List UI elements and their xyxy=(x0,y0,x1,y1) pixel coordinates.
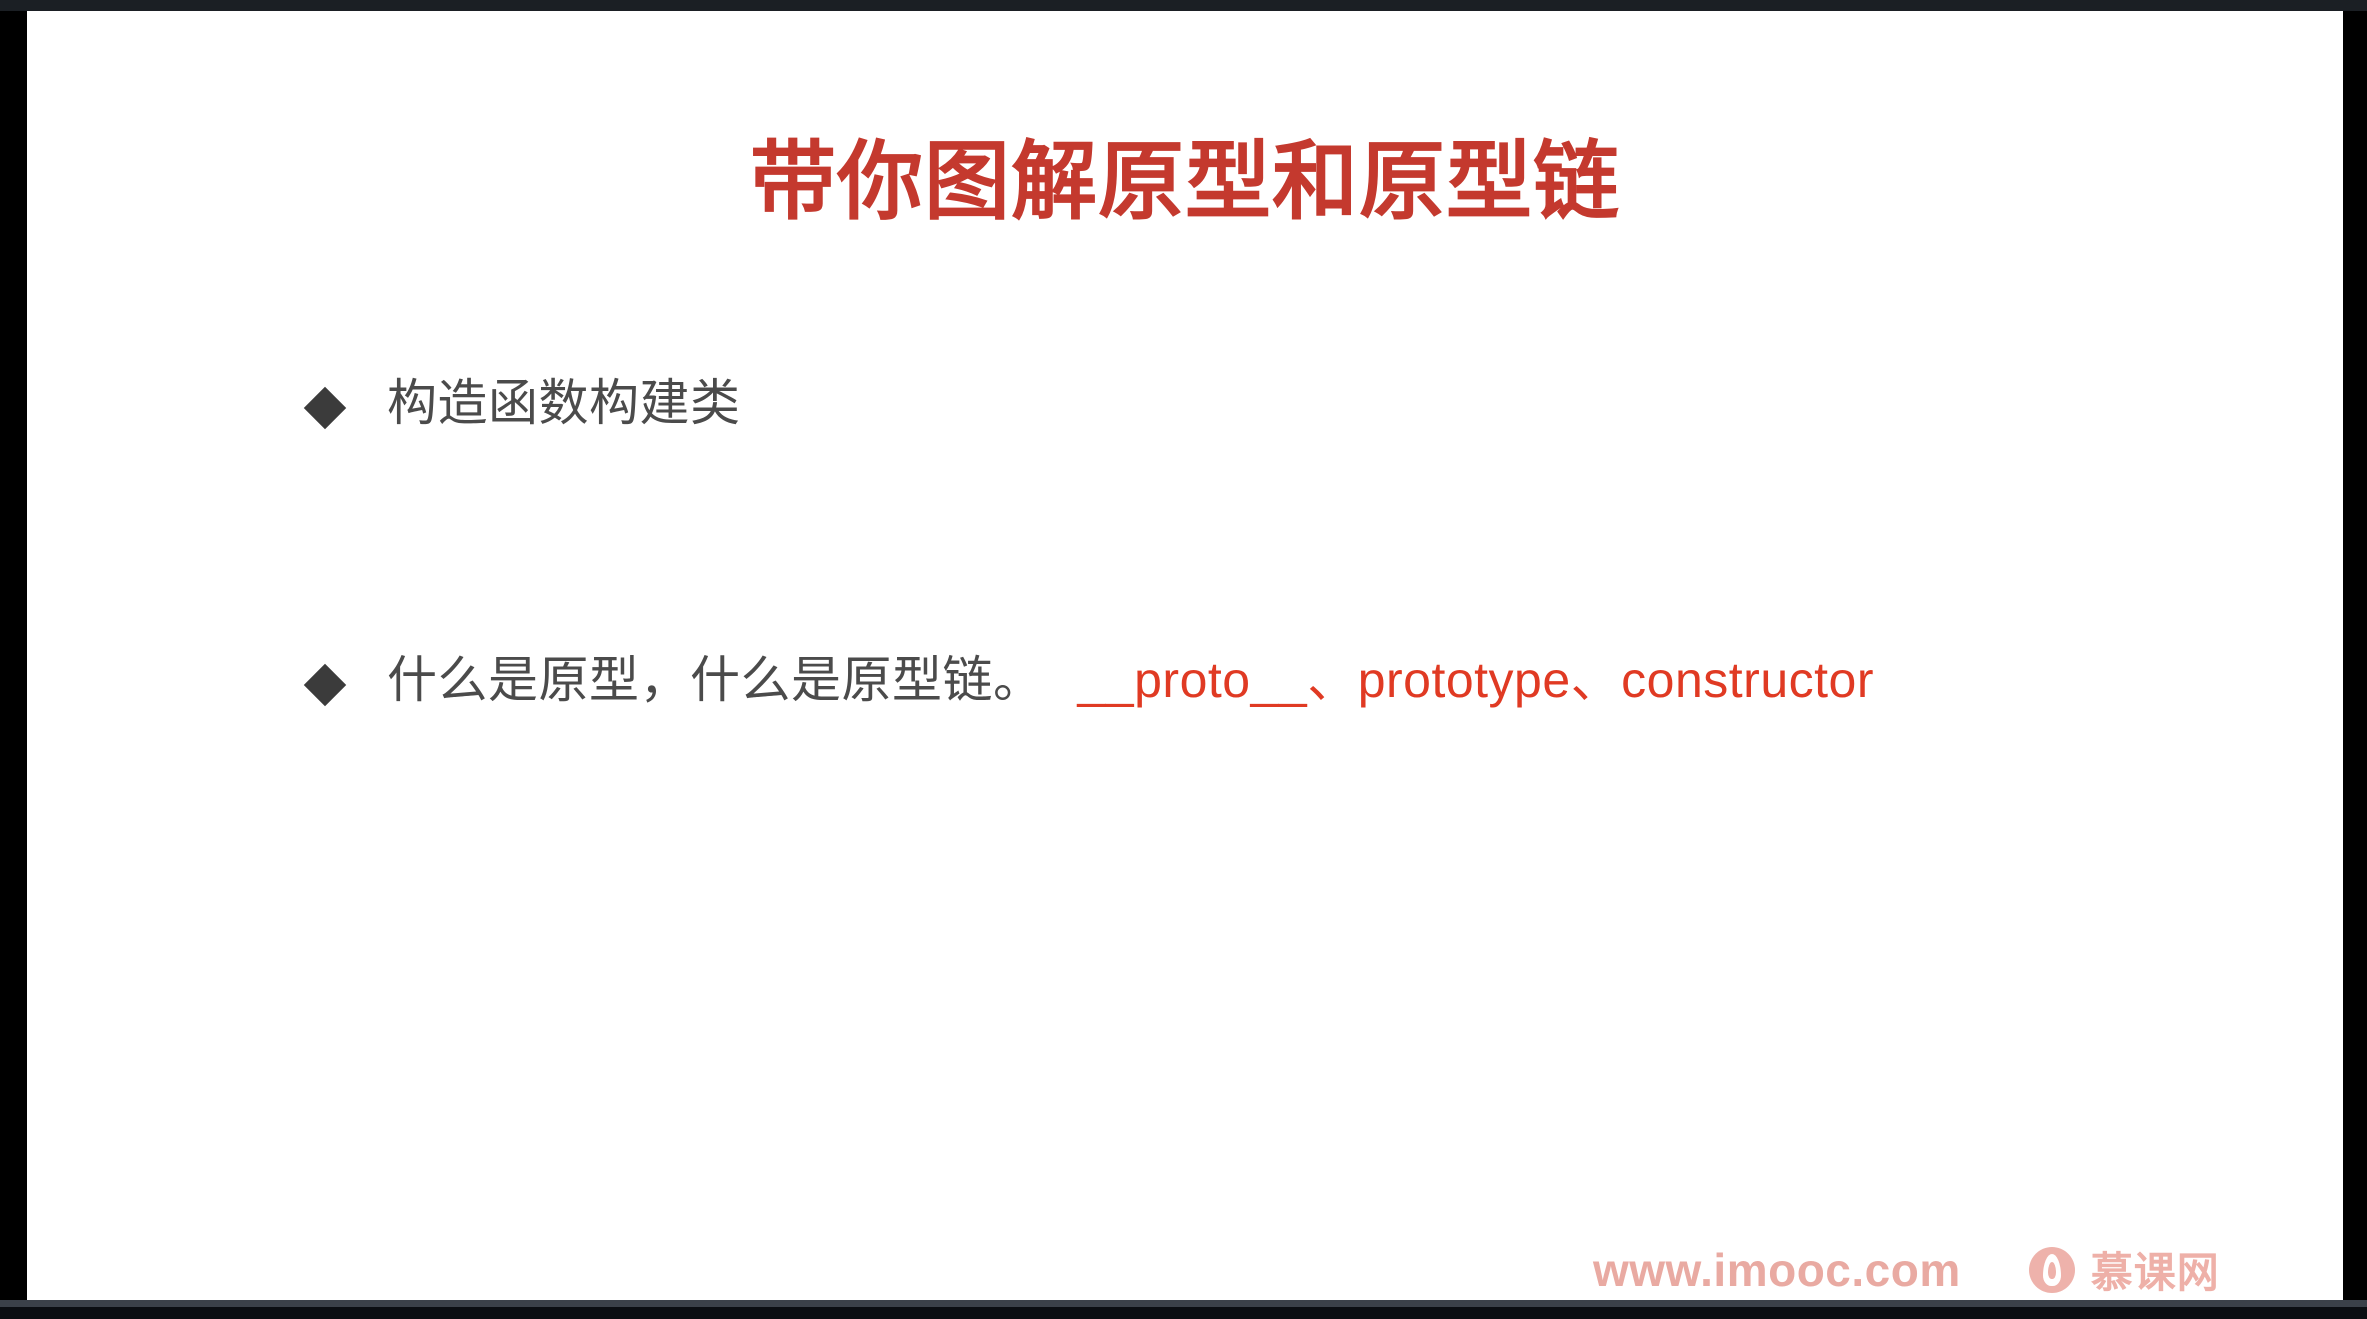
flame-inner-shape xyxy=(2048,1262,2056,1279)
diamond-bullet-icon xyxy=(304,387,346,429)
list-item: 什么是原型，什么是原型链。__proto__、prototype、constru… xyxy=(302,648,2202,713)
bullet-list: 构造函数构建类 什么是原型，什么是原型链。__proto__、prototype… xyxy=(302,371,2202,713)
list-item-code-terms: __proto__、prototype、constructor xyxy=(1044,652,1874,708)
footer-watermark: www.imooc.com 慕课网 xyxy=(1593,1239,2220,1300)
letterbox-left xyxy=(0,11,27,1300)
list-item-text: 什么是原型，什么是原型链。 xyxy=(387,652,1044,708)
presentation-slide: 带你图解原型和原型链 构造函数构建类 什么是原型，什么是原型链。__proto_… xyxy=(27,11,2343,1300)
code-terms-label: __proto__、prototype、constructor xyxy=(1078,652,1874,708)
video-player: 带你图解原型和原型链 构造函数构建类 什么是原型，什么是原型链。__proto_… xyxy=(0,0,2367,1319)
watermark-url: www.imooc.com xyxy=(1593,1243,1961,1297)
list-item: 构造函数构建类 xyxy=(302,371,2202,436)
letterbox-right xyxy=(2343,11,2367,1300)
brand-logo: 慕课网 xyxy=(2029,1239,2220,1300)
player-top-bar xyxy=(0,0,2367,11)
flame-circle-icon xyxy=(2029,1247,2075,1293)
player-bottom-bar xyxy=(0,1307,2367,1319)
list-item-label: 构造函数构建类 xyxy=(387,371,2202,436)
diamond-bullet-icon xyxy=(304,664,346,706)
page-title: 带你图解原型和原型链 xyxy=(27,139,2343,225)
list-item-label: 什么是原型，什么是原型链。__proto__、prototype、constru… xyxy=(387,648,2202,713)
player-progress-bar[interactable] xyxy=(0,1300,2367,1307)
brand-name-label: 慕课网 xyxy=(2091,1239,2220,1300)
